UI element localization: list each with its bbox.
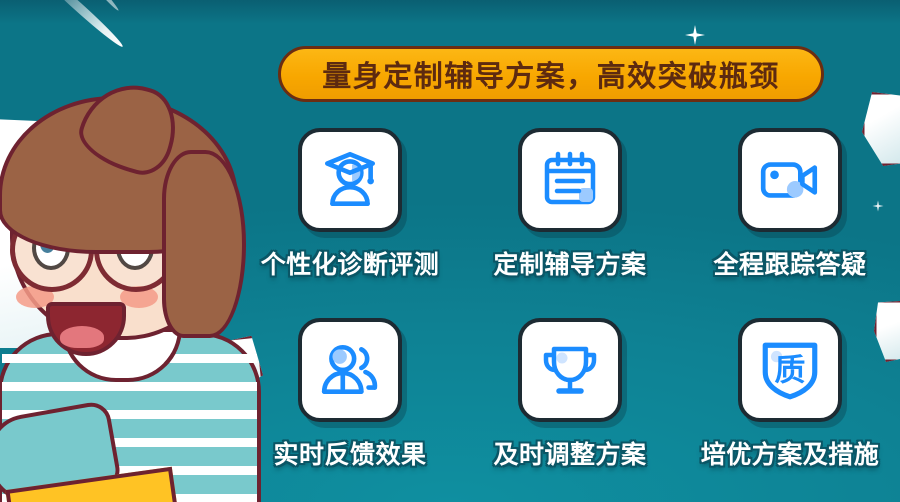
trophy-icon — [538, 338, 602, 402]
top-gradient-band — [0, 0, 900, 34]
shield-character: 质 — [775, 352, 806, 388]
feature-label-0: 个性化诊断评测 — [261, 245, 440, 281]
feature-label-1: 定制辅导方案 — [493, 245, 646, 281]
feature-card-2[interactable] — [738, 128, 842, 232]
headline-text: 量身定制辅导方案，高效突破瓶颈 — [322, 53, 780, 95]
headline-banner: 量身定制辅导方案，高效突破瓶颈 — [278, 46, 824, 102]
feature-card-0[interactable] — [298, 128, 402, 232]
feature-item-4[interactable]: 及时调整方案 — [460, 318, 680, 502]
boy-hair-side — [162, 150, 246, 338]
sparkle-star-icon — [685, 25, 705, 45]
promo-poster: 量身定制辅导方案，高效突破瓶颈 个性化诊断评测 — [0, 0, 900, 502]
feature-label-5: 培优方案及措施 — [701, 435, 880, 471]
comet-streak-icon — [30, 0, 125, 50]
feature-label-2: 全程跟踪答疑 — [713, 245, 866, 281]
graduate-student-icon — [317, 147, 383, 213]
clipboard-notes-icon — [538, 148, 602, 212]
feature-item-2[interactable]: 全程跟踪答疑 — [680, 128, 900, 315]
feature-item-5[interactable]: 质 培优方案及措施 — [680, 318, 900, 502]
feature-grid: 个性化诊断评测 定制辅导方案 — [240, 128, 900, 502]
two-users-icon — [317, 337, 383, 403]
feature-label-3: 实时反馈效果 — [273, 435, 426, 471]
feature-label-4: 及时调整方案 — [493, 435, 646, 471]
feature-card-4[interactable] — [518, 318, 622, 422]
cartoon-boy-illustration — [0, 110, 270, 502]
boy-tongue — [60, 326, 104, 348]
feature-item-3[interactable]: 实时反馈效果 — [240, 318, 460, 502]
feature-card-3[interactable] — [298, 318, 402, 422]
feature-card-1[interactable] — [518, 128, 622, 232]
video-camera-icon — [757, 147, 823, 213]
feature-item-0[interactable]: 个性化诊断评测 — [240, 128, 460, 315]
feature-card-5[interactable]: 质 — [738, 318, 842, 422]
feature-item-1[interactable]: 定制辅导方案 — [460, 128, 680, 315]
quality-shield-icon: 质 — [757, 337, 823, 403]
